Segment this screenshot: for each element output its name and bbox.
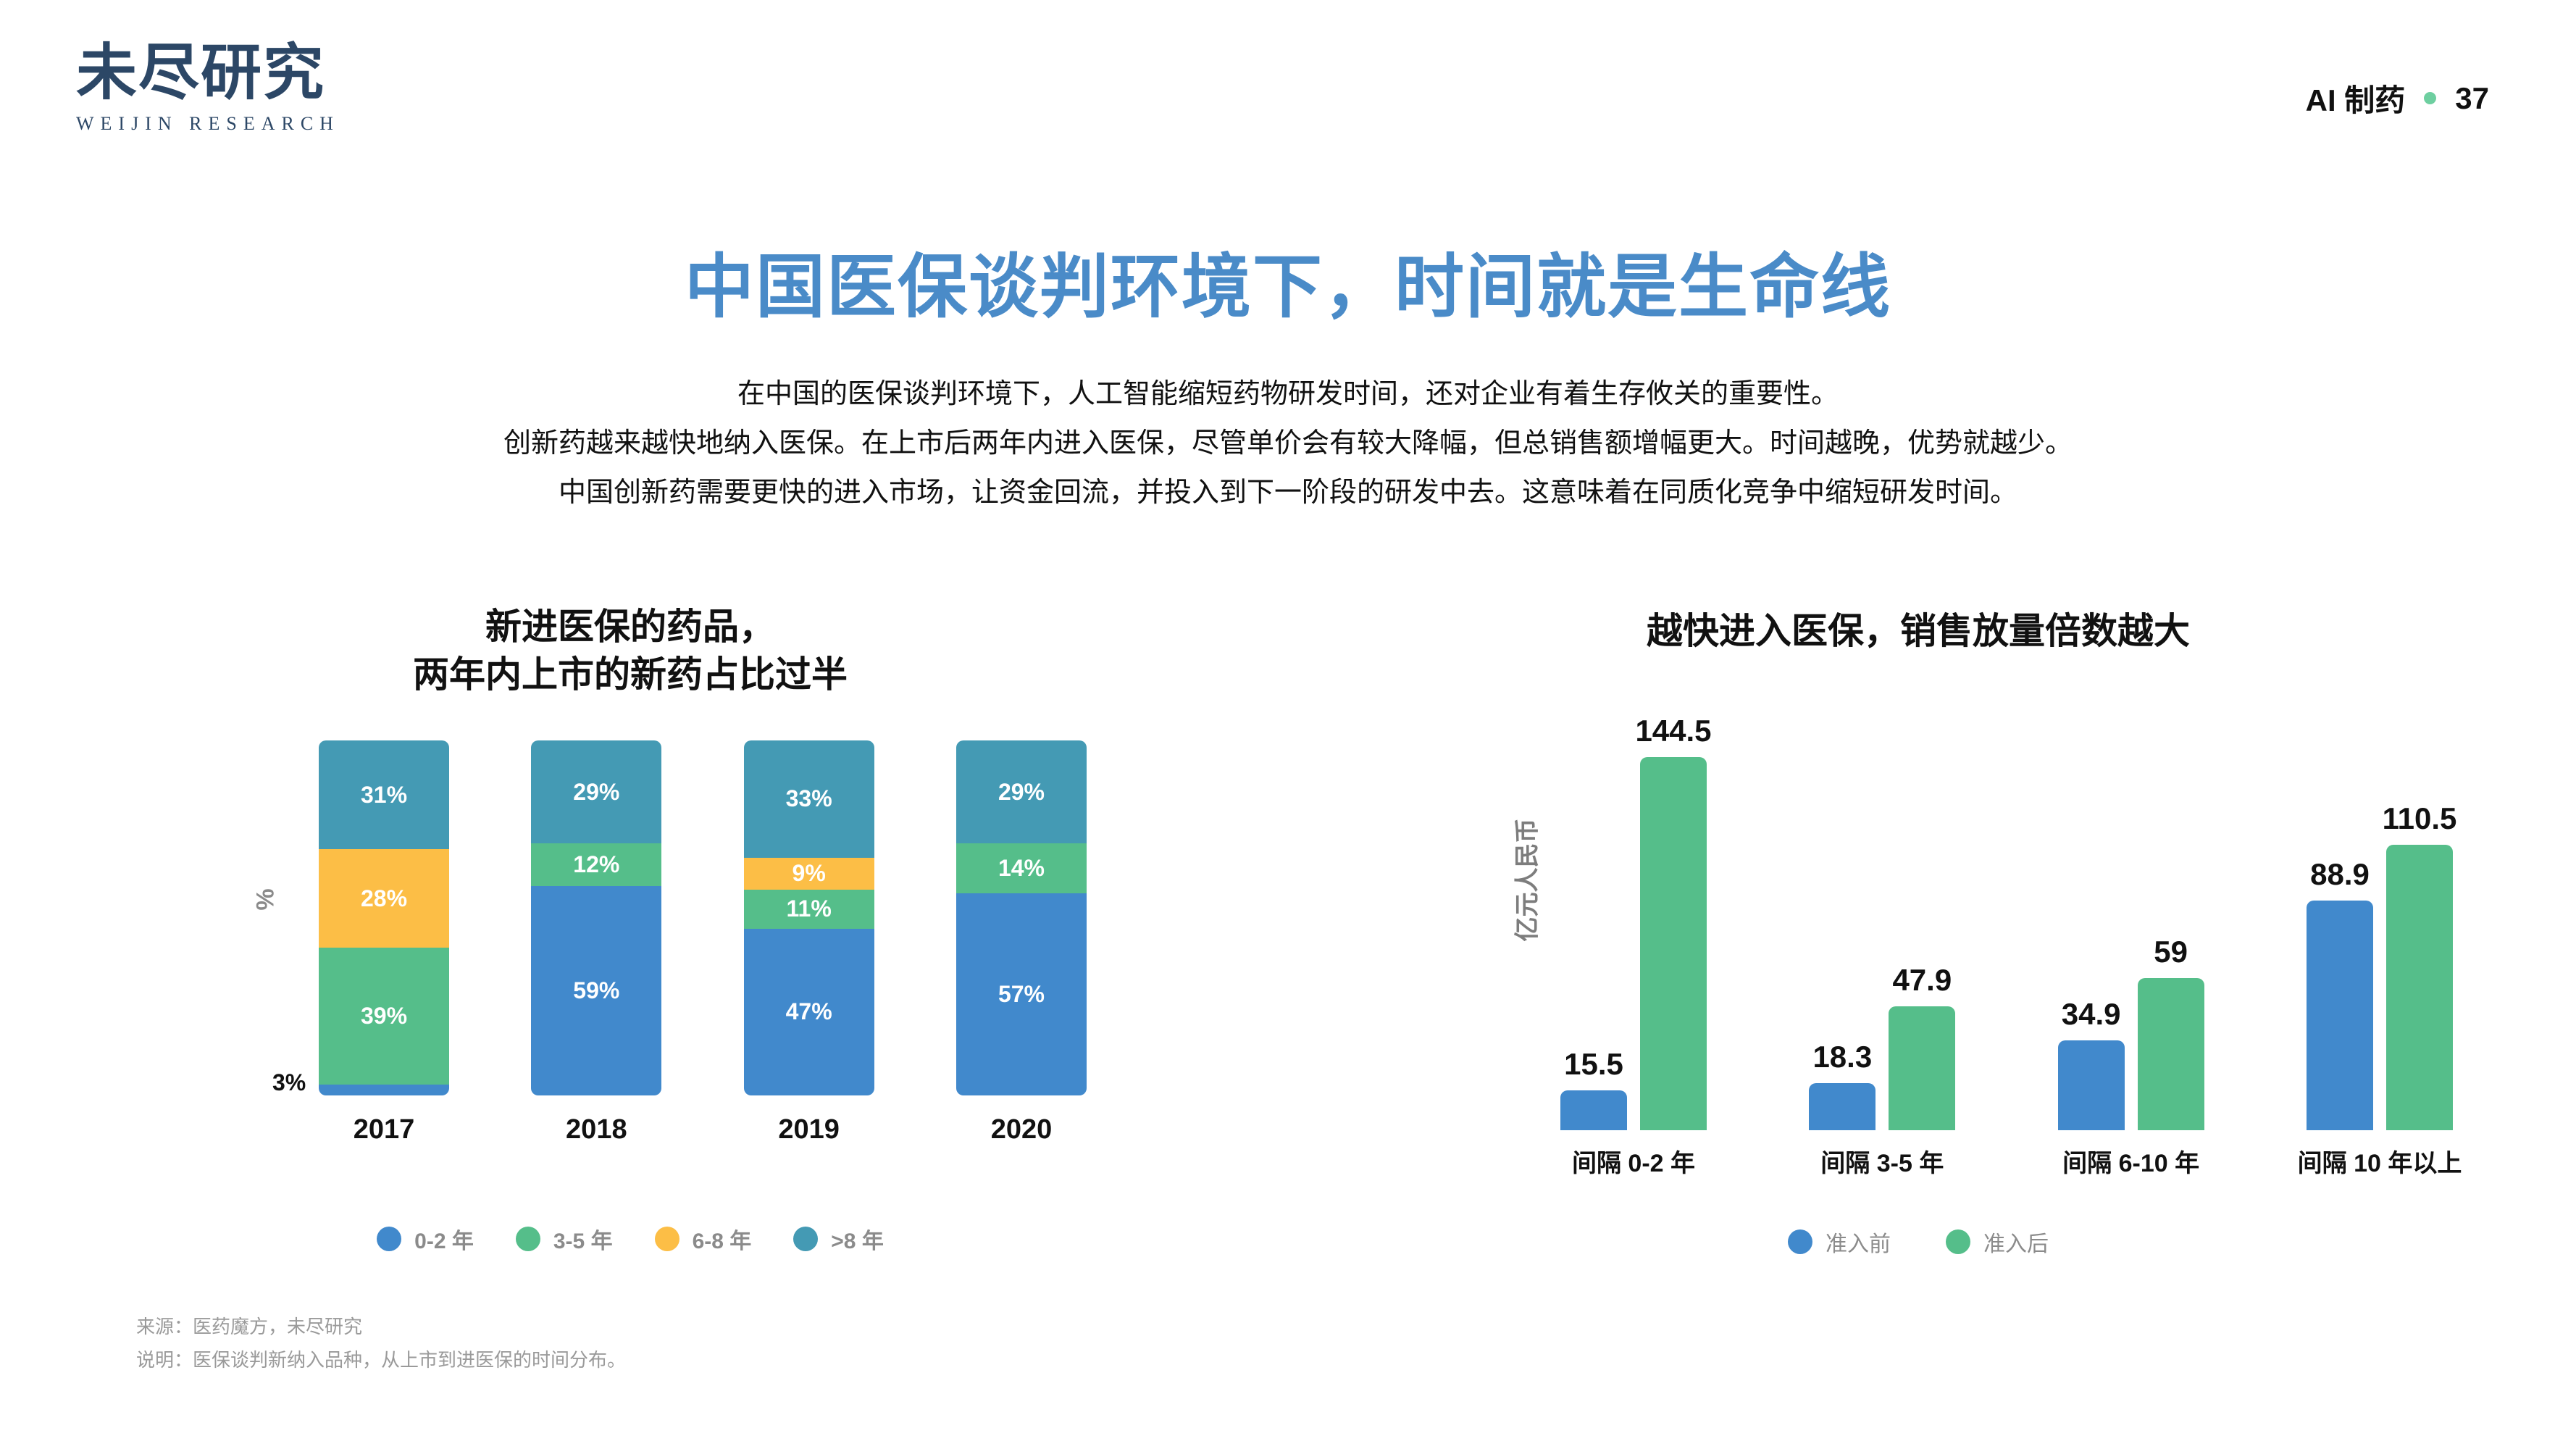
- stacked-bar-segment[interactable]: 14%: [956, 843, 1087, 893]
- left-chart-footnote: 来源：医药魔方，未尽研究 说明：医保谈判新纳入品种，从上市到进医保的时间分布。: [136, 1310, 1078, 1377]
- bar-value-label: 18.3: [1783, 1040, 1901, 1074]
- legend-item-label: 6-8 年: [693, 1223, 752, 1255]
- bar-value-label: 110.5: [2361, 801, 2478, 836]
- bar-value-label: 34.9: [2033, 997, 2150, 1032]
- legend-item[interactable]: 准入前: [1788, 1226, 1891, 1258]
- left-note-text: 说明：医保谈判新纳入品种，从上市到进医保的时间分布。: [136, 1343, 1078, 1377]
- left-chart-legend: 0-2 年3-5 年6-8 年>8 年: [0, 1223, 1260, 1255]
- bar[interactable]: [2058, 1040, 2125, 1130]
- left-source-text: 来源：医药魔方，未尽研究: [136, 1310, 1078, 1343]
- legend-item[interactable]: >8 年: [793, 1223, 884, 1255]
- stacked-bar-plot: 31%28%39%29%12%59%33%9%11%47%29%14%57%: [319, 740, 1087, 1095]
- legend-swatch-icon: [655, 1227, 679, 1251]
- right-x-axis-tick: 间隔 0-2 年: [1543, 1143, 1724, 1179]
- right-chart-title: 越快进入医保，销售放量倍数越大: [1260, 607, 2576, 655]
- grouped-bar-plot: 15.5144.518.347.934.95988.9110.5: [1543, 717, 2470, 1130]
- right-chart-legend: 准入前准入后: [1260, 1226, 2576, 1258]
- legend-swatch-icon: [1946, 1229, 1970, 1254]
- bar-value-label: 15.5: [1535, 1047, 1652, 1082]
- stacked-bar-segment[interactable]: 47%: [744, 929, 874, 1095]
- legend-swatch-icon: [516, 1227, 540, 1251]
- bar-wrapper: 34.9: [2058, 717, 2125, 1130]
- legend-item[interactable]: 0-2 年: [377, 1223, 474, 1255]
- left-x-axis-labels: 2017201820192020: [319, 1114, 1087, 1145]
- legend-item-label: 0-2 年: [414, 1223, 474, 1255]
- stacked-bar-segment[interactable]: 12%: [531, 843, 661, 886]
- left-chart-panel: 新进医保的药品， 两年内上市的新药占比过半 % 3% 31%28%39%29%1…: [0, 0, 1260, 1449]
- stacked-bar-column[interactable]: 33%9%11%47%: [744, 740, 874, 1095]
- bar-wrapper: 110.5: [2386, 717, 2453, 1130]
- bar-value-label: 59: [2112, 935, 2230, 969]
- right-x-axis-tick: 间隔 6-10 年: [2041, 1143, 2222, 1179]
- legend-item[interactable]: 3-5 年: [516, 1223, 613, 1255]
- stacked-bar-segment[interactable]: 39%: [319, 948, 449, 1085]
- stacked-bar-column[interactable]: 29%14%57%: [956, 740, 1087, 1095]
- left-x-axis-tick: 2017: [319, 1114, 449, 1145]
- bar-value-label: 47.9: [1863, 963, 1981, 998]
- left-x-axis-tick: 2019: [744, 1114, 874, 1145]
- bar-group: 15.5144.5: [1543, 717, 1724, 1130]
- stacked-bar-segment[interactable]: 11%: [744, 890, 874, 929]
- legend-swatch-icon: [377, 1227, 401, 1251]
- right-chart-panel: 越快进入医保，销售放量倍数越大 15.5144.518.347.934.9598…: [1260, 0, 2576, 1449]
- bar[interactable]: [1809, 1083, 1875, 1130]
- bar-wrapper: 88.9: [2307, 717, 2373, 1130]
- legend-item-label: 准入前: [1826, 1226, 1891, 1258]
- legend-item-label: >8 年: [831, 1223, 884, 1255]
- bar-group: 34.959: [2041, 717, 2222, 1130]
- stacked-bar-column[interactable]: 31%28%39%: [319, 740, 449, 1095]
- bar[interactable]: [1889, 1006, 1955, 1130]
- stacked-bar-column[interactable]: 29%12%59%: [531, 740, 661, 1095]
- right-x-axis-tick: 间隔 3-5 年: [1791, 1143, 1973, 1179]
- stacked-bar-segment[interactable]: 9%: [744, 858, 874, 890]
- left-y-axis-label: %: [252, 888, 280, 910]
- bar-wrapper: 144.5: [1640, 717, 1707, 1130]
- right-y-axis-label: 亿元人民币: [1507, 819, 1543, 942]
- bar[interactable]: [2307, 901, 2373, 1130]
- bar-value-label: 144.5: [1615, 714, 1732, 748]
- legend-item[interactable]: 6-8 年: [655, 1223, 752, 1255]
- bar-wrapper: 59: [2138, 717, 2204, 1130]
- legend-swatch-icon: [793, 1227, 818, 1251]
- bar-value-label: 88.9: [2281, 857, 2399, 892]
- bar[interactable]: [1640, 757, 1707, 1130]
- legend-item-label: 准入后: [1983, 1226, 2049, 1258]
- legend-item-label: 3-5 年: [553, 1223, 613, 1255]
- bar[interactable]: [2138, 978, 2204, 1130]
- bar-wrapper: 18.3: [1809, 717, 1875, 1130]
- bar[interactable]: [2386, 845, 2453, 1130]
- stacked-bar-segment[interactable]: 57%: [956, 893, 1087, 1095]
- left-outside-value-label: 3%: [272, 1069, 306, 1096]
- legend-item[interactable]: 准入后: [1946, 1226, 2049, 1258]
- stacked-bar-segment[interactable]: 31%: [319, 740, 449, 849]
- legend-swatch-icon: [1788, 1229, 1812, 1254]
- bar-group: 88.9110.5: [2289, 717, 2470, 1130]
- left-x-axis-tick: 2020: [956, 1114, 1087, 1145]
- bar-wrapper: 15.5: [1560, 717, 1627, 1130]
- stacked-bar-segment[interactable]: [319, 1085, 449, 1095]
- stacked-bar-segment[interactable]: 29%: [531, 740, 661, 843]
- right-x-axis-tick: 间隔 10 年以上: [2289, 1143, 2470, 1179]
- stacked-bar-segment[interactable]: 59%: [531, 886, 661, 1095]
- stacked-bar-segment[interactable]: 29%: [956, 740, 1087, 843]
- stacked-bar-segment[interactable]: 33%: [744, 740, 874, 858]
- right-x-axis-labels: 间隔 0-2 年间隔 3-5 年间隔 6-10 年间隔 10 年以上: [1543, 1143, 2470, 1179]
- left-chart-title: 新进医保的药品， 两年内上市的新药占比过半: [0, 603, 1260, 698]
- bar[interactable]: [1560, 1090, 1627, 1130]
- stacked-bar-segment[interactable]: 28%: [319, 849, 449, 948]
- left-chart-title-line-2: 两年内上市的新药占比过半: [0, 651, 1260, 698]
- left-chart-title-line-1: 新进医保的药品，: [0, 603, 1260, 651]
- bar-group: 18.347.9: [1791, 717, 1973, 1130]
- left-x-axis-tick: 2018: [531, 1114, 661, 1145]
- bar-wrapper: 47.9: [1889, 717, 1955, 1130]
